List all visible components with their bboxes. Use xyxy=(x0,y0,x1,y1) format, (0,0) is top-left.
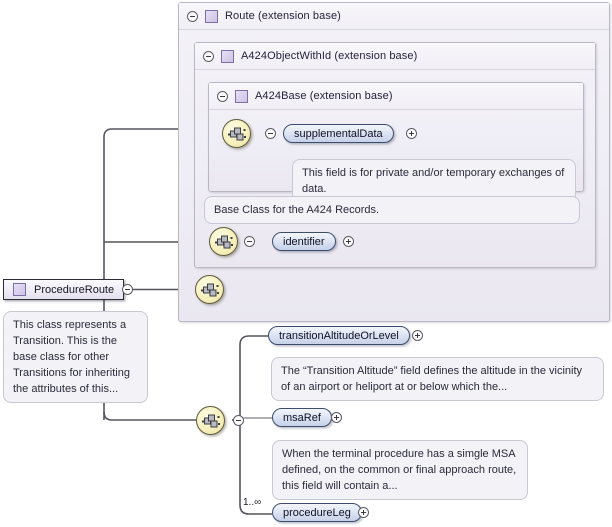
panel-a424base-header: A424Base (extension base) xyxy=(209,83,583,110)
sequence-glyph-icon xyxy=(200,282,221,299)
sequence-icon-route[interactable] xyxy=(195,275,224,304)
element-supplementalData-expand-toggle[interactable] xyxy=(406,128,417,139)
element-supplementalData-label: supplementalData xyxy=(294,128,383,140)
procedureroute-branch-toggle[interactable] xyxy=(233,415,244,426)
xsd-schema-diagram: Route (extension base) A424ObjectWithId … xyxy=(0,0,612,527)
element-transitionAltitudeOrLevel-expand-toggle[interactable] xyxy=(412,330,423,341)
annotation-supplementalData-text: This field is for private and/or tempora… xyxy=(302,167,564,195)
class-square-icon xyxy=(221,50,234,63)
panel-a424objectwithid-collapse-toggle[interactable] xyxy=(203,51,214,62)
class-box-procedureroute-collapse-toggle[interactable] xyxy=(122,284,133,295)
panel-a424objectwithid-title: A424ObjectWithId (extension base) xyxy=(241,50,417,62)
element-procedureLeg-label: procedureLeg xyxy=(283,507,351,519)
class-square-icon xyxy=(235,90,248,103)
sequence-glyph-icon xyxy=(201,413,222,430)
annotation-msaRef-text: When the terminal procedure has a simgle… xyxy=(282,448,516,492)
annotation-a424base-text: Base Class for the A424 Records. xyxy=(214,204,379,216)
panel-a424objectwithid-header: A424ObjectWithId (extension base) xyxy=(195,43,595,70)
class-box-procedureroute[interactable]: ProcedureRoute xyxy=(3,279,124,300)
class-square-icon xyxy=(13,283,26,296)
panel-a424base-title: A424Base (extension base) xyxy=(255,90,393,102)
element-transitionAltitudeOrLevel-label: transitionAltitudeOrLevel xyxy=(279,330,399,342)
panel-a424base-collapse-toggle[interactable] xyxy=(217,91,228,102)
annotation-procedureroute-text: This class represents a Transition. This… xyxy=(13,319,130,395)
sequence-icon-a424base[interactable] xyxy=(222,119,251,148)
class-box-procedureroute-label: ProcedureRoute xyxy=(34,284,114,296)
sequence-icon-a424objectwithid[interactable] xyxy=(209,227,238,256)
supplementalData-branch-toggle[interactable] xyxy=(265,128,276,139)
element-procedureLeg-occurs: 1..∞ xyxy=(243,497,261,508)
annotation-transitionAltitudeOrLevel: The “Transition Altitude” field defines … xyxy=(271,357,604,401)
element-procedureLeg[interactable]: procedureLeg xyxy=(272,503,362,522)
class-square-icon xyxy=(205,10,218,23)
identifier-branch-toggle[interactable] xyxy=(244,236,255,247)
sequence-icon-procedureroute[interactable] xyxy=(196,406,225,435)
sequence-glyph-icon xyxy=(227,126,248,143)
annotation-procedureroute: This class represents a Transition. This… xyxy=(3,311,148,403)
annotation-a424base: Base Class for the A424 Records. xyxy=(204,196,580,224)
element-transitionAltitudeOrLevel[interactable]: transitionAltitudeOrLevel xyxy=(268,326,410,345)
element-msaRef[interactable]: msaRef xyxy=(272,408,332,427)
element-msaRef-label: msaRef xyxy=(283,412,321,424)
element-procedureLeg-expand-toggle[interactable] xyxy=(358,507,369,518)
panel-route-title: Route (extension base) xyxy=(225,10,341,22)
element-msaRef-expand-toggle[interactable] xyxy=(331,412,342,423)
annotation-msaRef: When the terminal procedure has a simgle… xyxy=(272,440,528,500)
panel-route-header: Route (extension base) xyxy=(179,3,609,30)
element-identifier[interactable]: identifier xyxy=(272,232,336,251)
element-supplementalData[interactable]: supplementalData xyxy=(283,124,394,143)
annotation-transitionAltitudeOrLevel-text: The “Transition Altitude” field defines … xyxy=(281,365,582,393)
element-identifier-label: identifier xyxy=(283,236,325,248)
panel-route-collapse-toggle[interactable] xyxy=(187,11,198,22)
sequence-glyph-icon xyxy=(214,234,235,251)
element-identifier-expand-toggle[interactable] xyxy=(343,236,354,247)
